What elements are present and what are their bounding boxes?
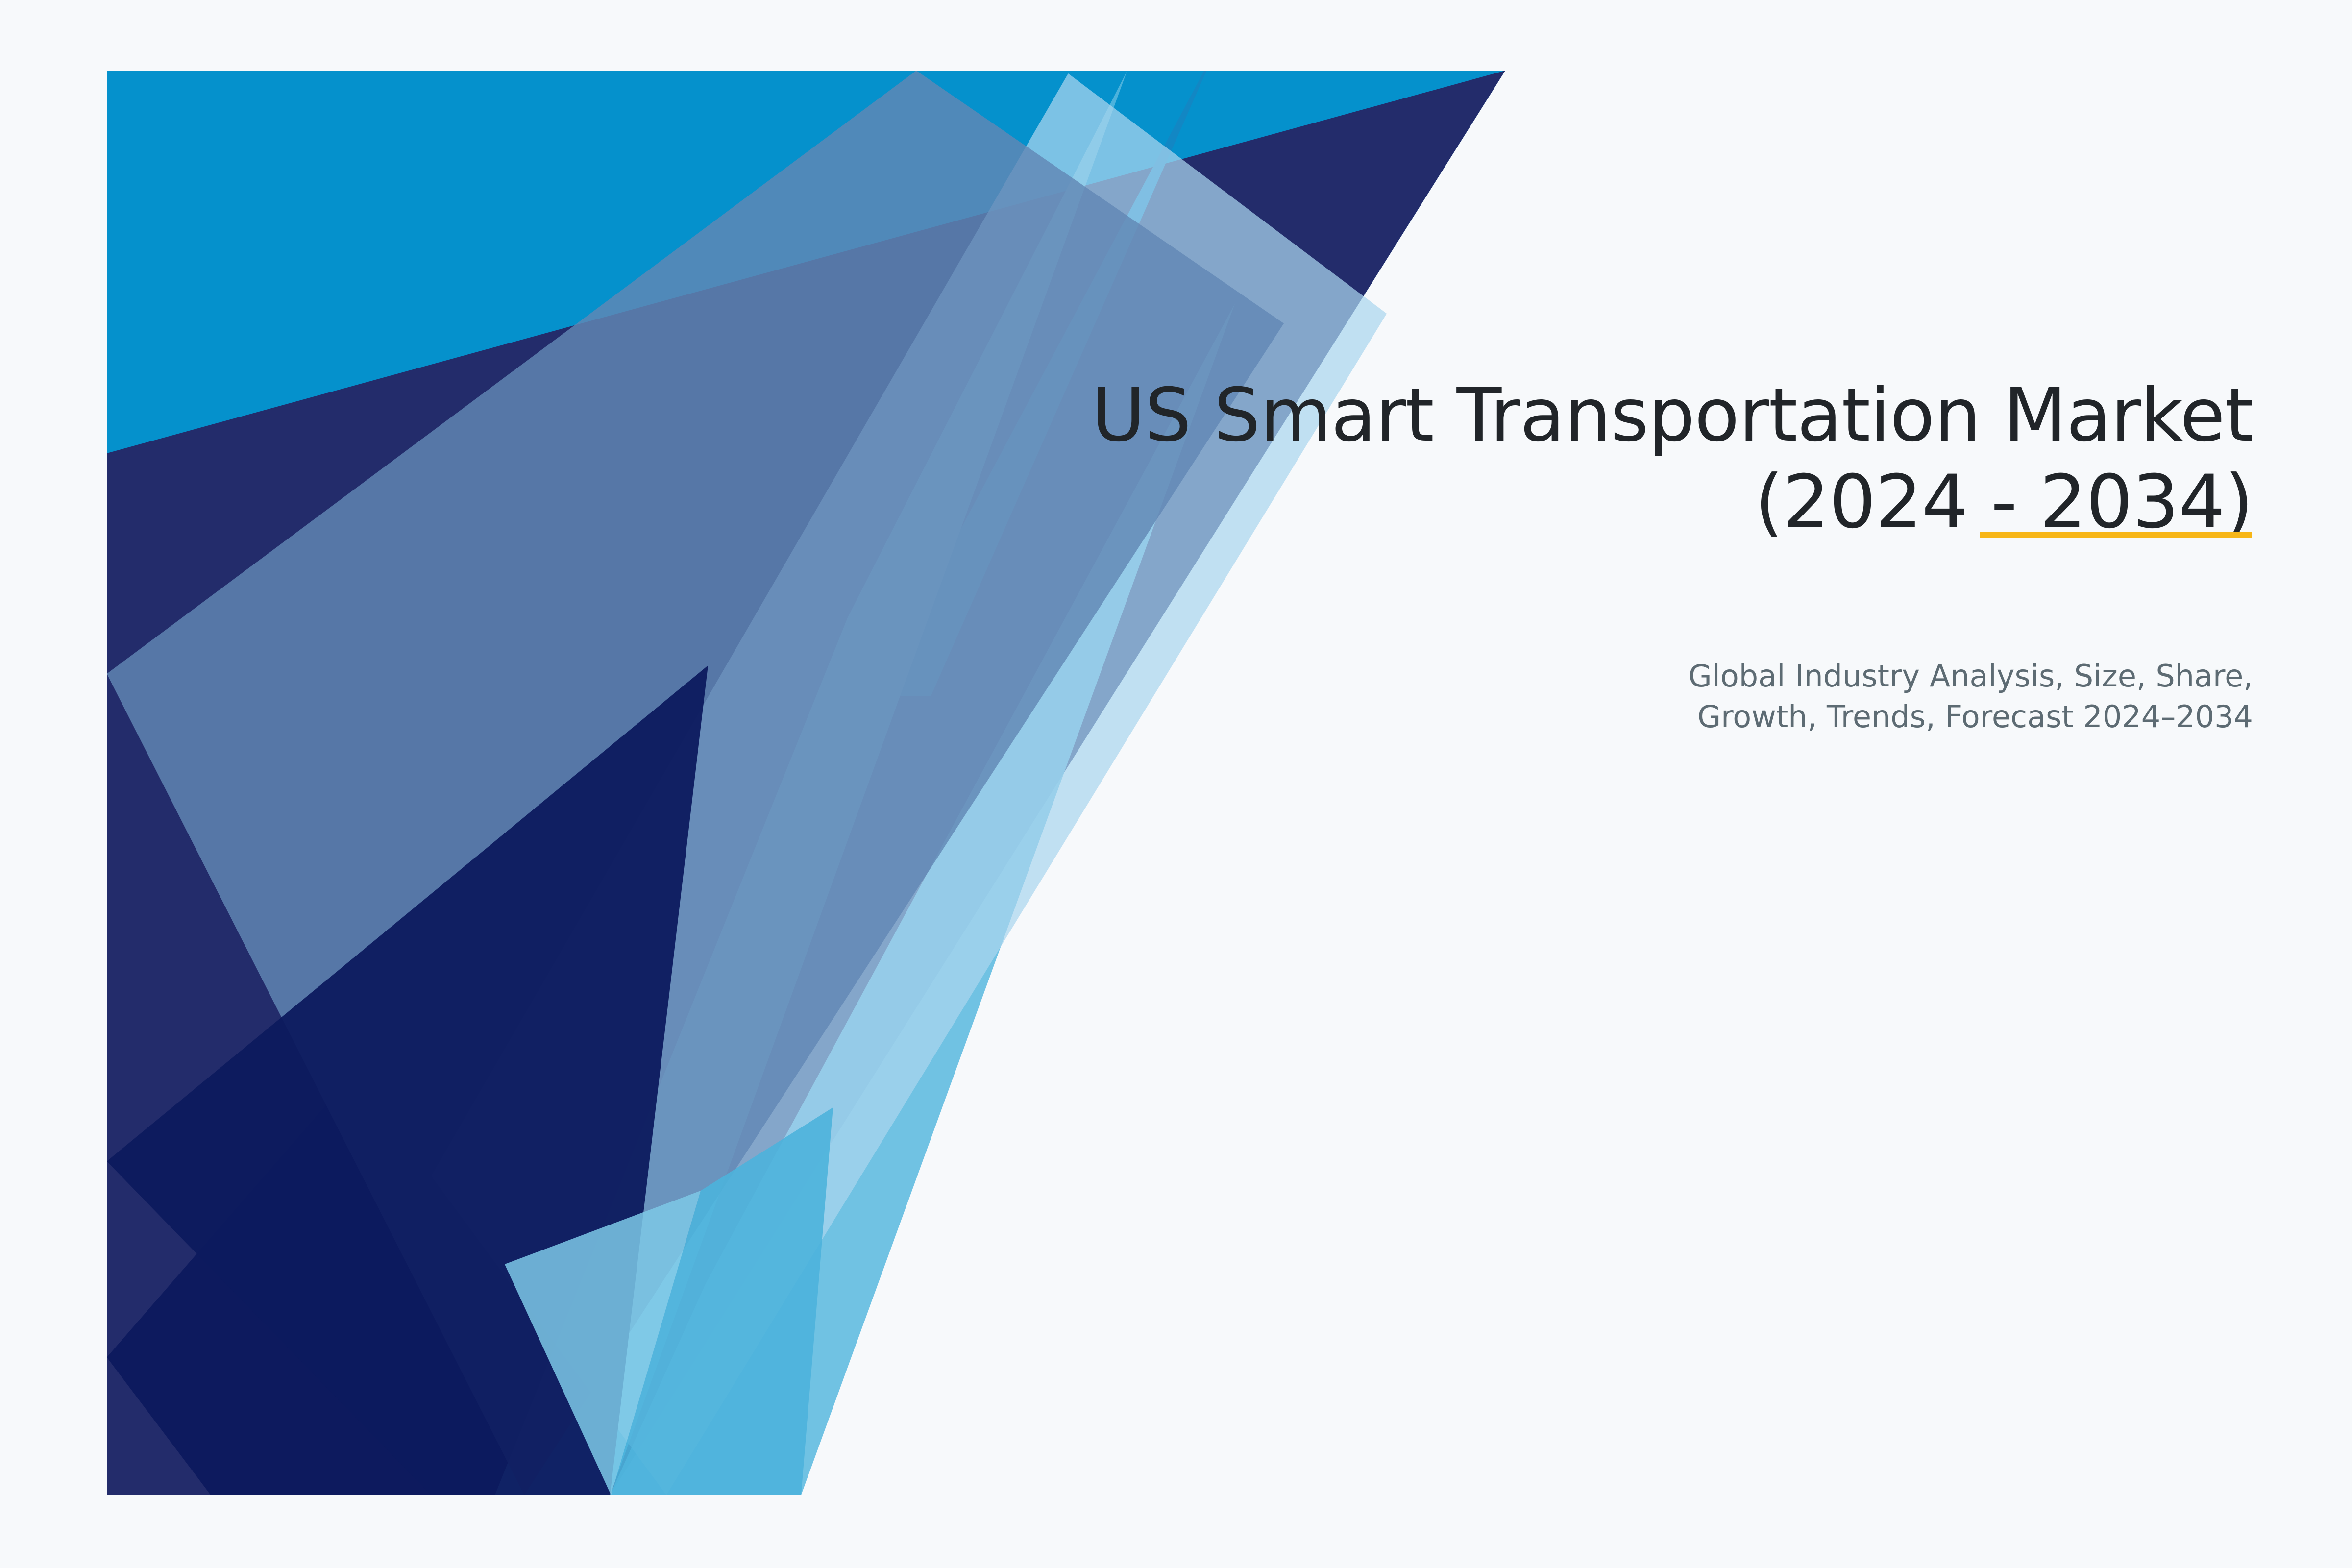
title-underline-accent: [1980, 532, 2252, 538]
cover-text-block: US Smart Transportation Market (2024 - 2…: [1028, 372, 2253, 546]
page-title: US Smart Transportation Market (2024 - 2…: [1028, 372, 2253, 546]
report-cover-page: US Smart Transportation Market (2024 - 2…: [0, 0, 2352, 1568]
abstract-geometric-cover-graphic: [0, 0, 2352, 1568]
page-subtitle: Global Industry Analysis, Size, Share, G…: [1631, 656, 2253, 737]
